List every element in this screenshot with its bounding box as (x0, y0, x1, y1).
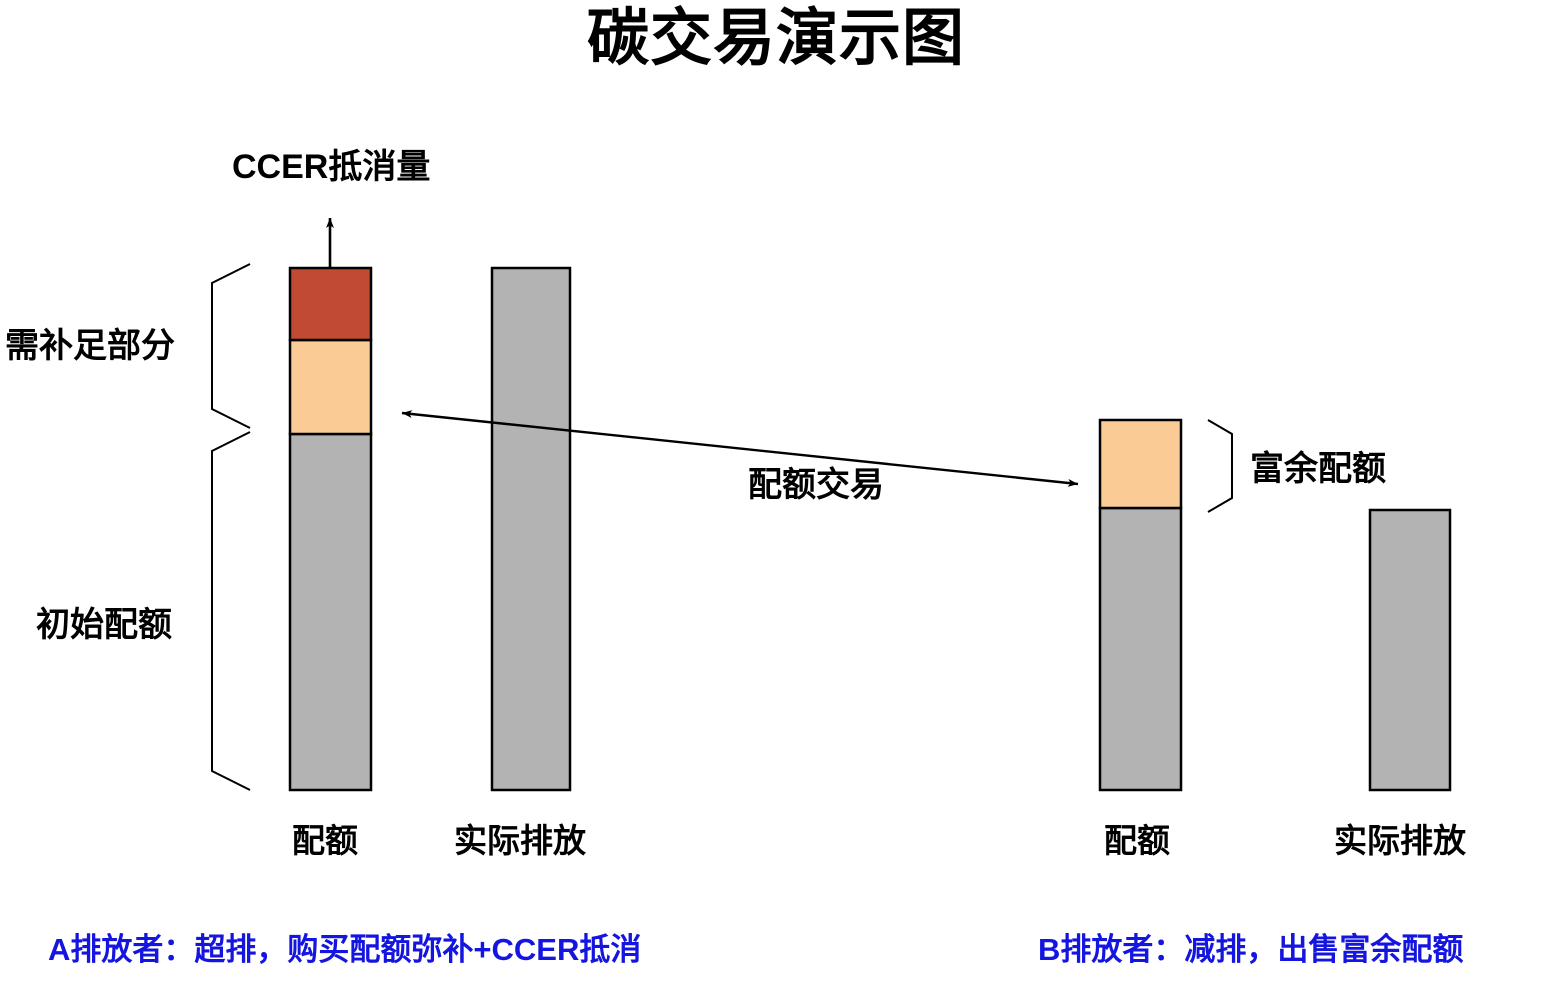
need-to-cover-label: 需补足部分 (5, 329, 175, 363)
diagram-canvas: 碳交易演示图 CCER抵消量 需补足 (0, 0, 1552, 985)
bar-b-actual-emission (1370, 510, 1450, 790)
axis-label-b-quota: 配额 (1104, 824, 1170, 857)
bar-b-quota-segment-surplus (1100, 420, 1181, 508)
footnote-emitter-a: A排放者：超排，购买配额弥补+CCER抵消 (48, 934, 641, 965)
axis-label-a-quota: 配额 (292, 824, 358, 857)
surplus-allowance-brace-icon (1208, 420, 1232, 512)
allowance-trade-label: 配额交易 (748, 468, 884, 502)
bar-a-quota-segment-purchased (290, 340, 371, 434)
need-to-cover-brace-icon (212, 264, 250, 428)
initial-allowance-brace-icon (212, 432, 250, 790)
axis-label-a-actual: 实际排放 (454, 824, 586, 857)
ccer-offset-label: CCER抵消量 (232, 150, 430, 184)
initial-allowance-label: 初始配额 (36, 608, 172, 642)
bar-a-actual-emission (492, 268, 570, 790)
bar-a-quota-segment-initial (290, 434, 371, 790)
axis-label-b-actual: 实际排放 (1334, 824, 1466, 857)
bar-a-quota-segment-ccer (290, 268, 371, 340)
surplus-allowance-label: 富余配额 (1250, 452, 1386, 486)
bar-b-quota-segment-initial (1100, 508, 1181, 790)
footnote-emitter-b: B排放者：减排，出售富余配额 (1038, 934, 1463, 965)
